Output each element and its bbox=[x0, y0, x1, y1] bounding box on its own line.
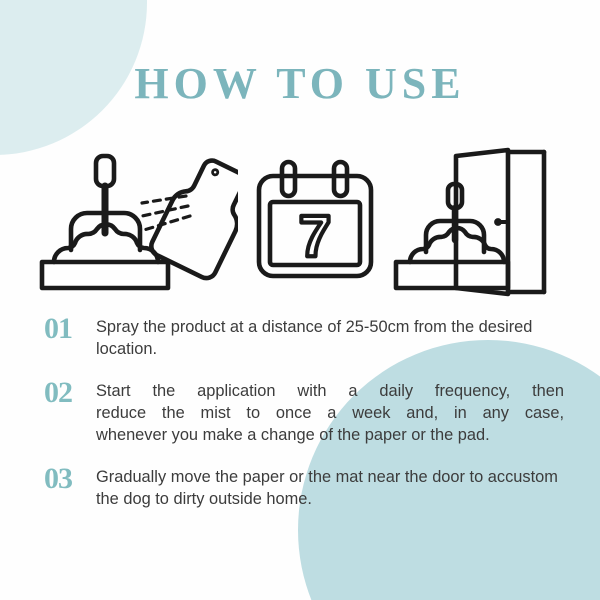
step-number: 03 bbox=[44, 464, 96, 495]
step-text-line: whenever you make a change of the paper … bbox=[96, 424, 564, 446]
step-number: 02 bbox=[44, 378, 96, 409]
step-text-line: Start the application with a daily frequ… bbox=[96, 380, 564, 402]
icon-row: 7 bbox=[0, 140, 600, 310]
list-item: 03 Gradually move the paper or the mat n… bbox=[44, 464, 564, 511]
spray-on-pad-icon bbox=[38, 140, 238, 305]
pad-near-door-icon bbox=[386, 140, 566, 305]
list-item: 01 Spray the product at a distance of 25… bbox=[44, 314, 564, 361]
list-item: 02 Start the application with a daily fr… bbox=[44, 378, 564, 447]
how-to-use-infographic: HOW TO USE bbox=[0, 0, 600, 600]
page-title: HOW TO USE bbox=[0, 62, 600, 106]
step-number: 01 bbox=[44, 314, 96, 345]
step-text-line: reduce the mist to once a week and, in a… bbox=[96, 402, 564, 424]
steps-list: 01 Spray the product at a distance of 25… bbox=[44, 314, 564, 527]
step-text: Gradually move the paper or the mat near… bbox=[96, 464, 564, 511]
step-text: Start the application with a daily frequ… bbox=[96, 378, 564, 447]
step-text: Spray the product at a distance of 25-50… bbox=[96, 314, 564, 361]
calendar-day-number: 7 bbox=[299, 204, 331, 269]
calendar-icon: 7 bbox=[252, 140, 382, 290]
